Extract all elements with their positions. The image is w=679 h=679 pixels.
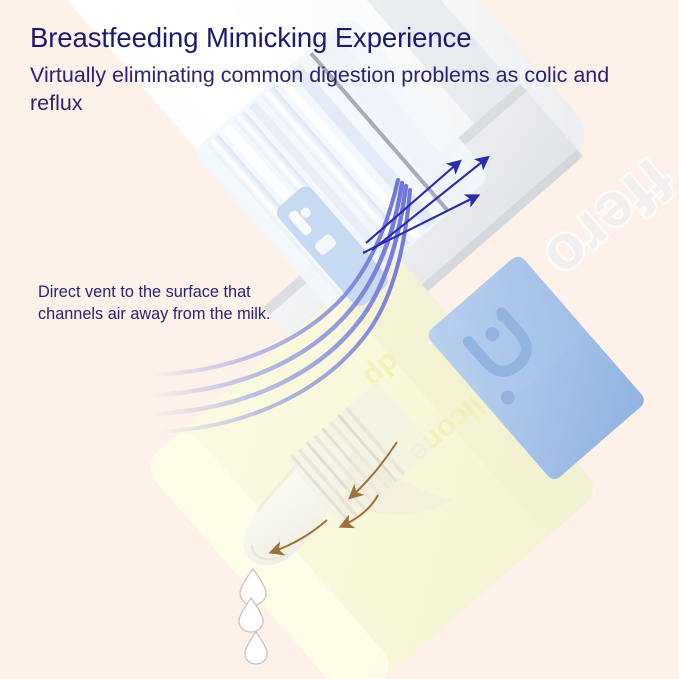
air-arrow-1 [366, 162, 459, 243]
air-escape-arrows [363, 158, 487, 253]
milk-droplets [239, 569, 267, 664]
milk-arrow-3 [272, 520, 327, 552]
droplet-3 [245, 632, 267, 664]
page-subtitle: Virtually eliminating common digestion p… [30, 61, 615, 118]
milk-arrow-2 [342, 495, 378, 526]
droplet-1 [240, 569, 266, 605]
milk-flow-arrows [272, 442, 397, 552]
product-infographic: ffero ffero silicone dp [0, 0, 679, 679]
heading-block: Breastfeeding Mimicking Experience Virtu… [30, 22, 630, 118]
page-title: Breastfeeding Mimicking Experience [30, 22, 630, 54]
air-arrow-2 [372, 158, 487, 250]
air-arrow-3 [363, 196, 477, 253]
milk-arrow-1 [351, 442, 397, 497]
vent-callout-text: Direct vent to the surface that channels… [38, 281, 288, 325]
